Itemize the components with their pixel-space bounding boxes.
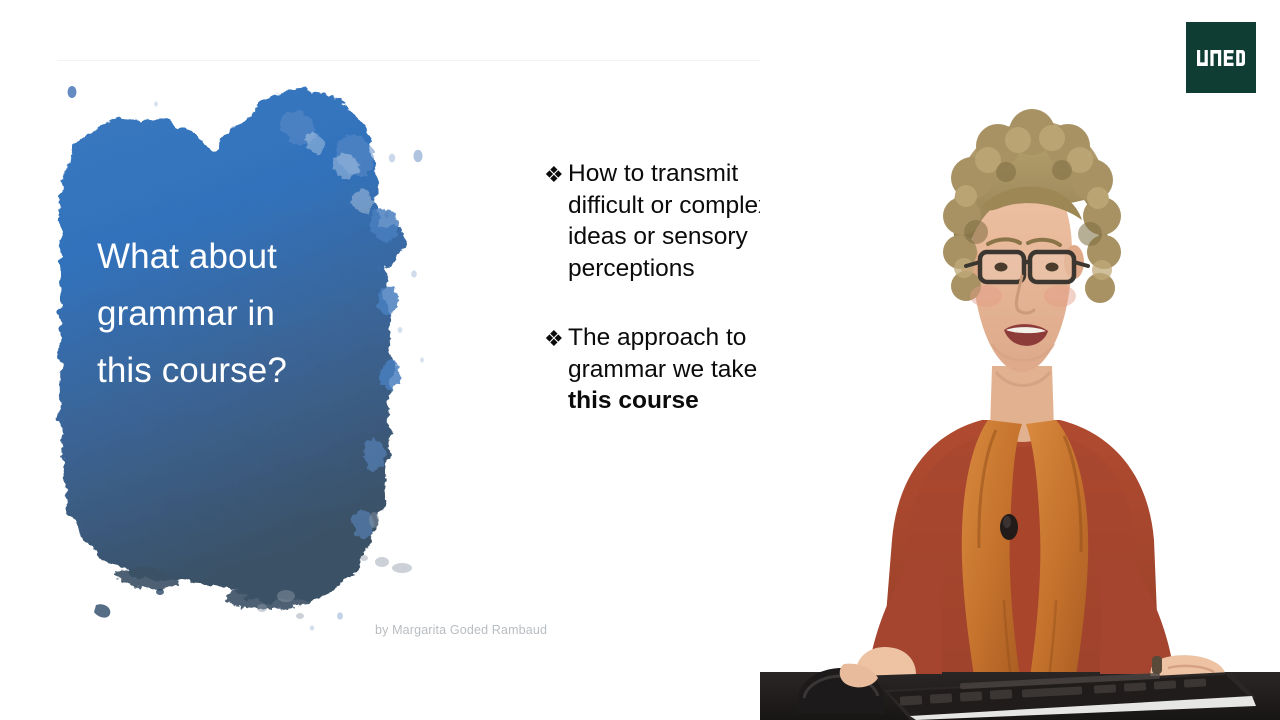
presentation-slide: What about grammar in this course? by Ma… xyxy=(0,0,880,720)
slide-title: What about grammar in this course? xyxy=(97,228,397,399)
presenter-video-feed xyxy=(760,0,1280,720)
bullet-text-emphasis: this course xyxy=(568,387,699,414)
uned-wordmark-icon xyxy=(1197,50,1245,66)
video-lecture-screen: What about grammar in this course? by Ma… xyxy=(0,0,1280,720)
uned-logo xyxy=(1186,22,1256,93)
diamond-bullet-icon: ❖ xyxy=(544,323,564,355)
slide-author-credit: by Margarita Goded Rambaud xyxy=(375,623,547,637)
diamond-bullet-icon: ❖ xyxy=(544,159,564,191)
